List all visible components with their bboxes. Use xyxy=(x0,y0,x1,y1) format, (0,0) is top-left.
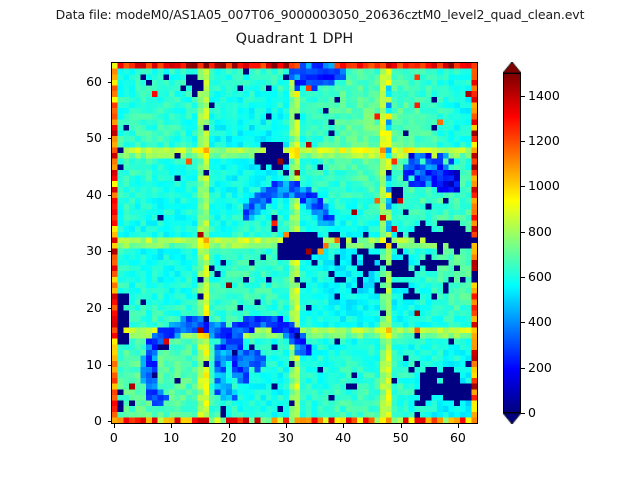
y-tick-label: 10 xyxy=(62,357,102,372)
x-tick-label: 60 xyxy=(438,430,478,445)
dph-heatmap-image[interactable] xyxy=(112,63,477,423)
data-file-suptitle: Data file: modeM0/AS1A05_007T06_90000030… xyxy=(0,7,640,22)
y-tick-mark xyxy=(108,308,112,309)
colorbar-tick-label: 1000 xyxy=(528,178,560,193)
figure-canvas: Data file: modeM0/AS1A05_007T06_90000030… xyxy=(0,0,640,480)
colorbar-tick-mark xyxy=(521,277,525,278)
colorbar-tick-label: 200 xyxy=(528,360,552,375)
colorbar-gradient xyxy=(503,73,521,413)
x-tick-mark xyxy=(458,424,459,428)
y-tick-mark xyxy=(108,251,112,252)
y-tick-label: 60 xyxy=(62,74,102,89)
colorbar-tick-label: 1200 xyxy=(528,133,560,148)
colorbar-tick-mark xyxy=(521,322,525,323)
x-tick-label: 30 xyxy=(266,430,306,445)
y-tick-mark xyxy=(108,138,112,139)
x-tick-mark xyxy=(343,424,344,428)
x-tick-label: 40 xyxy=(323,430,363,445)
colorbar[interactable] xyxy=(503,62,521,424)
x-tick-mark xyxy=(171,424,172,428)
colorbar-canvas xyxy=(504,74,520,412)
x-tick-label: 10 xyxy=(151,430,191,445)
colorbar-tick-mark xyxy=(521,141,525,142)
colorbar-tick-mark xyxy=(521,368,525,369)
x-tick-mark xyxy=(229,424,230,428)
y-tick-label: 0 xyxy=(62,413,102,428)
plot-title: Quadrant 1 DPH xyxy=(111,31,478,47)
colorbar-tick-label: 800 xyxy=(528,224,552,239)
colorbar-tick-label: 0 xyxy=(528,405,536,420)
y-tick-label: 20 xyxy=(62,300,102,315)
x-tick-label: 50 xyxy=(381,430,421,445)
colorbar-tick-label: 1400 xyxy=(528,88,560,103)
x-tick-mark xyxy=(286,424,287,428)
colorbar-tick-mark xyxy=(521,232,525,233)
colorbar-tick-mark xyxy=(521,413,525,414)
y-tick-mark xyxy=(108,82,112,83)
y-tick-mark xyxy=(108,195,112,196)
x-tick-mark xyxy=(401,424,402,428)
y-tick-label: 50 xyxy=(62,130,102,145)
heatmap-axes[interactable] xyxy=(111,62,478,424)
colorbar-tick-mark xyxy=(521,96,525,97)
colorbar-extend-min-arrow xyxy=(503,413,521,424)
x-tick-label: 20 xyxy=(209,430,249,445)
x-tick-mark xyxy=(114,424,115,428)
colorbar-tick-label: 400 xyxy=(528,314,552,329)
x-tick-label: 0 xyxy=(94,430,134,445)
y-tick-mark xyxy=(108,421,112,422)
colorbar-tick-label: 600 xyxy=(528,269,552,284)
colorbar-extend-max-arrow xyxy=(503,62,521,73)
colorbar-tick-mark xyxy=(521,186,525,187)
y-tick-label: 30 xyxy=(62,243,102,258)
y-tick-mark xyxy=(108,365,112,366)
y-tick-label: 40 xyxy=(62,187,102,202)
